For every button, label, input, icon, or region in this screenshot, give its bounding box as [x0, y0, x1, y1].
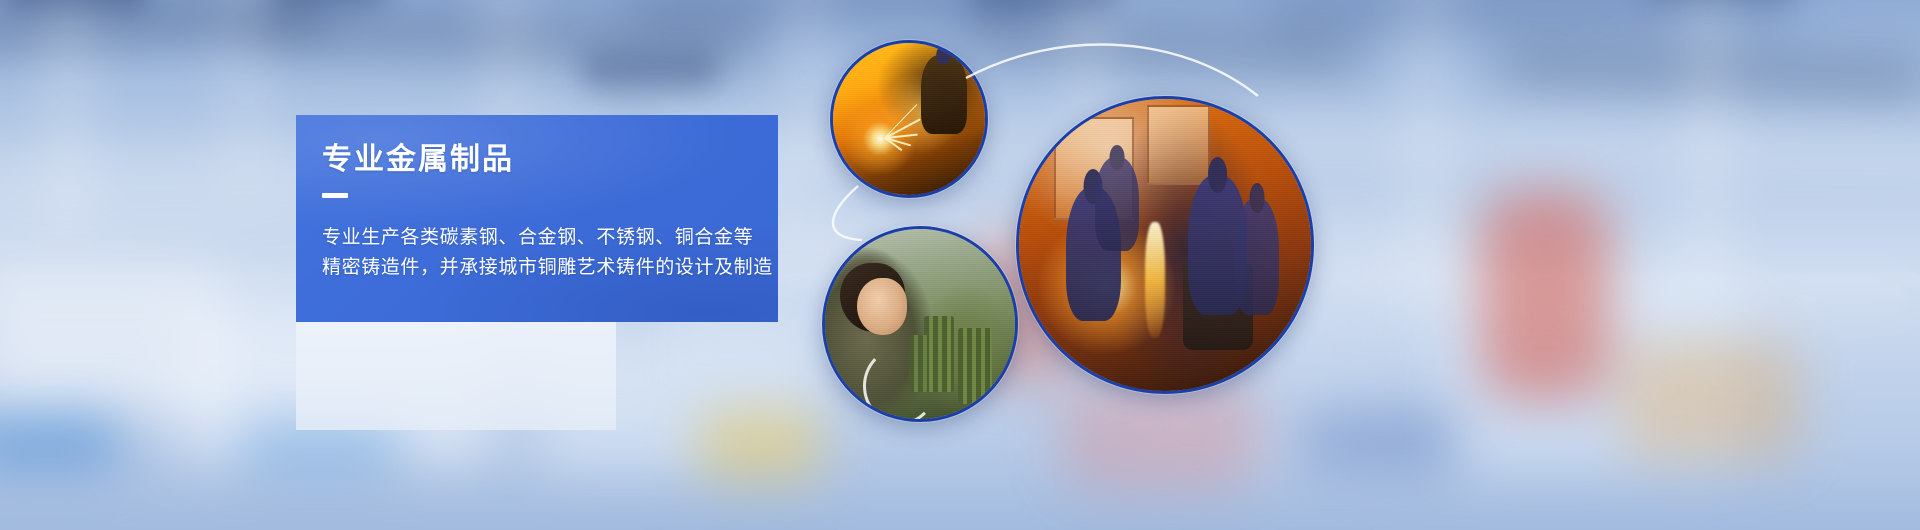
foundry-pouring-photo — [1016, 96, 1314, 394]
title-divider — [322, 193, 348, 198]
promo-text-panel: 专业金属制品 专业生产各类碳素钢、合金钢、不锈钢、铜合金等 精密铸造件，并承接城… — [296, 115, 778, 322]
background-light-panel — [296, 318, 616, 430]
description-line-2: 精密铸造件，并承接城市铜雕艺术铸件的设计及制造 — [322, 253, 773, 283]
promo-banner: 专业金属制品 专业生产各类碳素钢、合金钢、不锈钢、铜合金等 精密铸造件，并承接城… — [0, 0, 1920, 530]
welding-sparks-photo — [830, 40, 988, 198]
description-line-1: 专业生产各类碳素钢、合金钢、不锈钢、铜合金等 — [322, 223, 753, 253]
page-title: 专业金属制品 — [322, 145, 514, 175]
woman-worker-photo — [822, 226, 1018, 422]
